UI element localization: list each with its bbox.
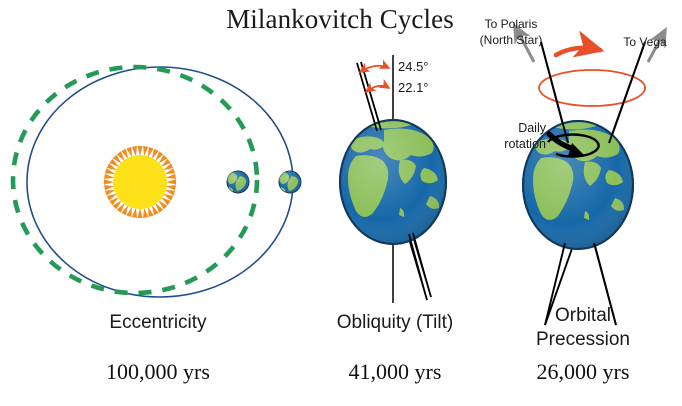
panel-period-eccentricity: 100,000 yrs bbox=[38, 360, 278, 385]
daily-rotation-label-line1: Daily bbox=[468, 121, 546, 135]
panel-label-obliquity: Obliquity (Tilt) bbox=[300, 312, 490, 333]
angle-label-min: 22.1° bbox=[398, 81, 429, 96]
panel-eccentricity-graphic bbox=[13, 67, 301, 297]
panel-label-precession-line2: Precession bbox=[508, 329, 658, 350]
polaris-label-line1: To Polaris bbox=[466, 18, 556, 31]
panel-period-obliquity: 41,000 yrs bbox=[300, 360, 490, 385]
daily-rotation-label-line2: rotation bbox=[468, 137, 546, 151]
panel-label-eccentricity: Eccentricity bbox=[38, 312, 278, 333]
earth-globe-icon-obliquity bbox=[340, 120, 446, 244]
vega-label: To Vega bbox=[612, 36, 678, 49]
page-title: Milankovitch Cycles bbox=[190, 4, 490, 34]
panel-precession-graphic bbox=[518, 32, 662, 325]
diagram-canvas: Milankovitch Cycles Eccentricity 100,000… bbox=[0, 0, 682, 406]
panel-period-precession: 26,000 yrs bbox=[508, 360, 658, 385]
earth-globe-icon-blue-orbit bbox=[279, 171, 301, 193]
panel-obliquity-graphic bbox=[340, 55, 446, 303]
panel-label-precession-line1: Orbital bbox=[508, 305, 658, 326]
polaris-label-line2: (North Star) bbox=[466, 34, 556, 47]
sun-icon bbox=[104, 146, 176, 218]
angle-label-max: 24.5° bbox=[398, 60, 429, 75]
earth-globe-icon-green-orbit bbox=[227, 171, 249, 193]
